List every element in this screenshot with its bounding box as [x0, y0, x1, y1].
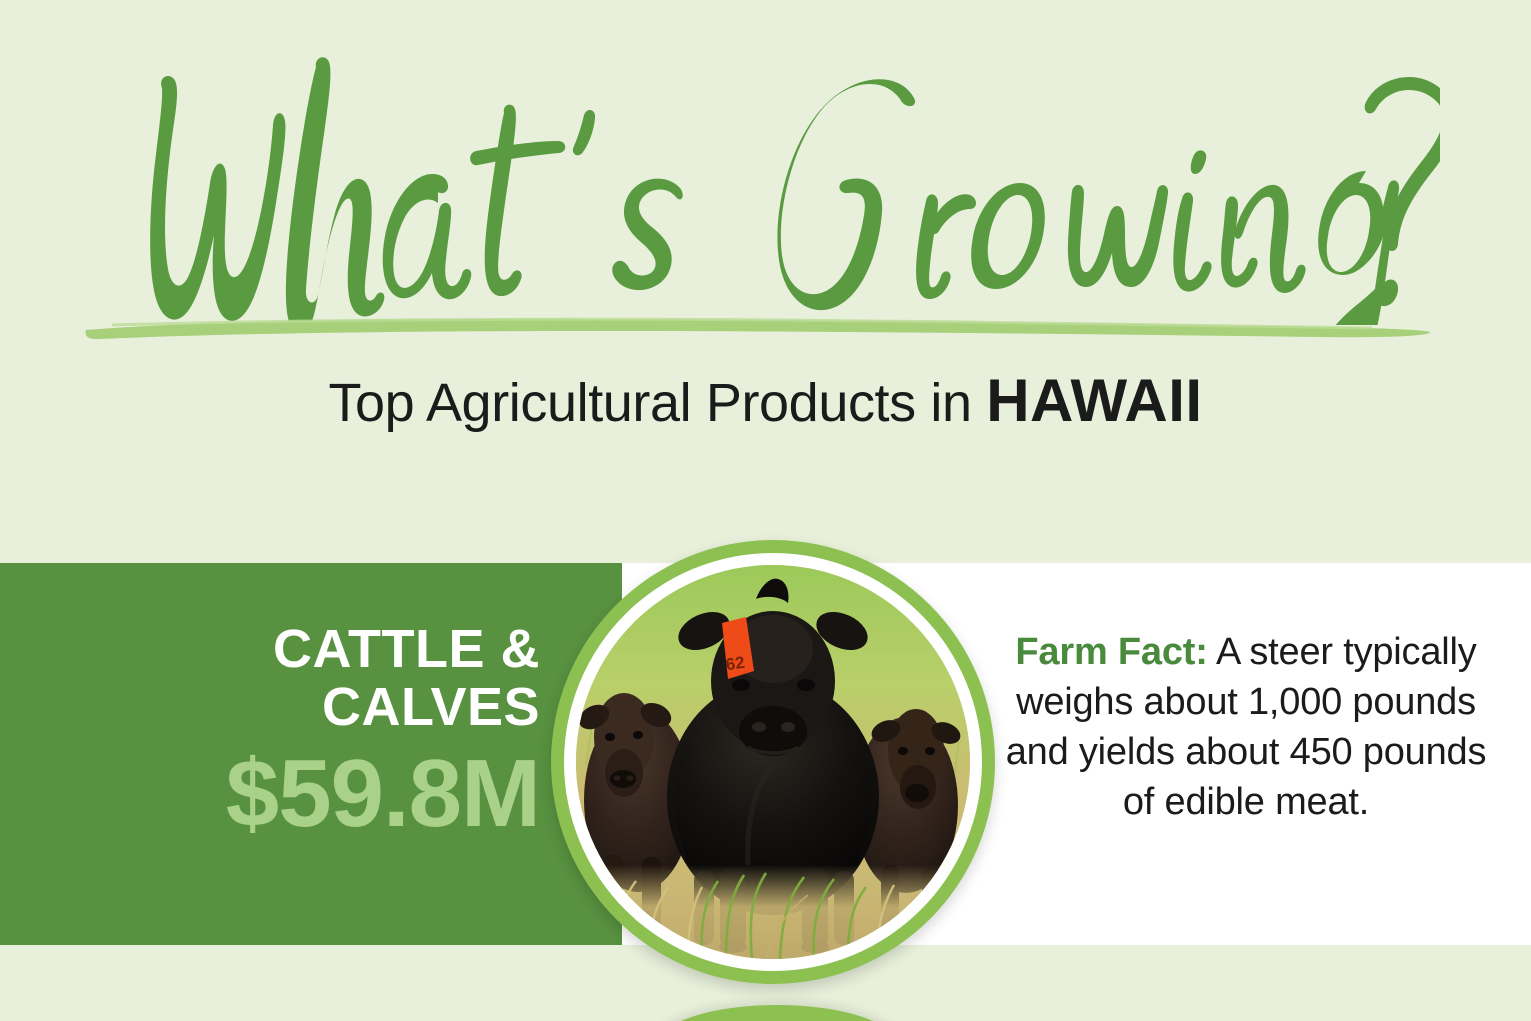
commodity-name-line-2: CALVES [40, 678, 540, 736]
cattle-photo: 62 [576, 565, 970, 959]
commodity-photo-ring: 62 [551, 540, 995, 984]
page-subtitle: Top Agricultural Products in HAWAII [0, 366, 1531, 435]
commodity-name: CATTLE & CALVES [40, 620, 540, 736]
page-title-script [120, 55, 1440, 325]
infographic-page: Top Agricultural Products in HAWAII CATT… [0, 0, 1531, 1021]
farm-fact: Farm Fact: A steer typically weighs abou… [996, 627, 1496, 827]
commodity-stat-block: CATTLE & CALVES $59.8M [40, 620, 540, 846]
subtitle-prefix: Top Agricultural Products in [328, 373, 986, 433]
title-underline-brushstroke [82, 312, 1434, 342]
svg-text:62: 62 [725, 653, 746, 674]
farm-fact-label: Farm Fact: [1015, 631, 1207, 673]
header-section: Top Agricultural Products in HAWAII [0, 0, 1531, 563]
commodity-value: $59.8M [40, 742, 540, 846]
subtitle-state: HAWAII [986, 367, 1202, 434]
commodity-name-line-1: CATTLE & [40, 620, 540, 678]
